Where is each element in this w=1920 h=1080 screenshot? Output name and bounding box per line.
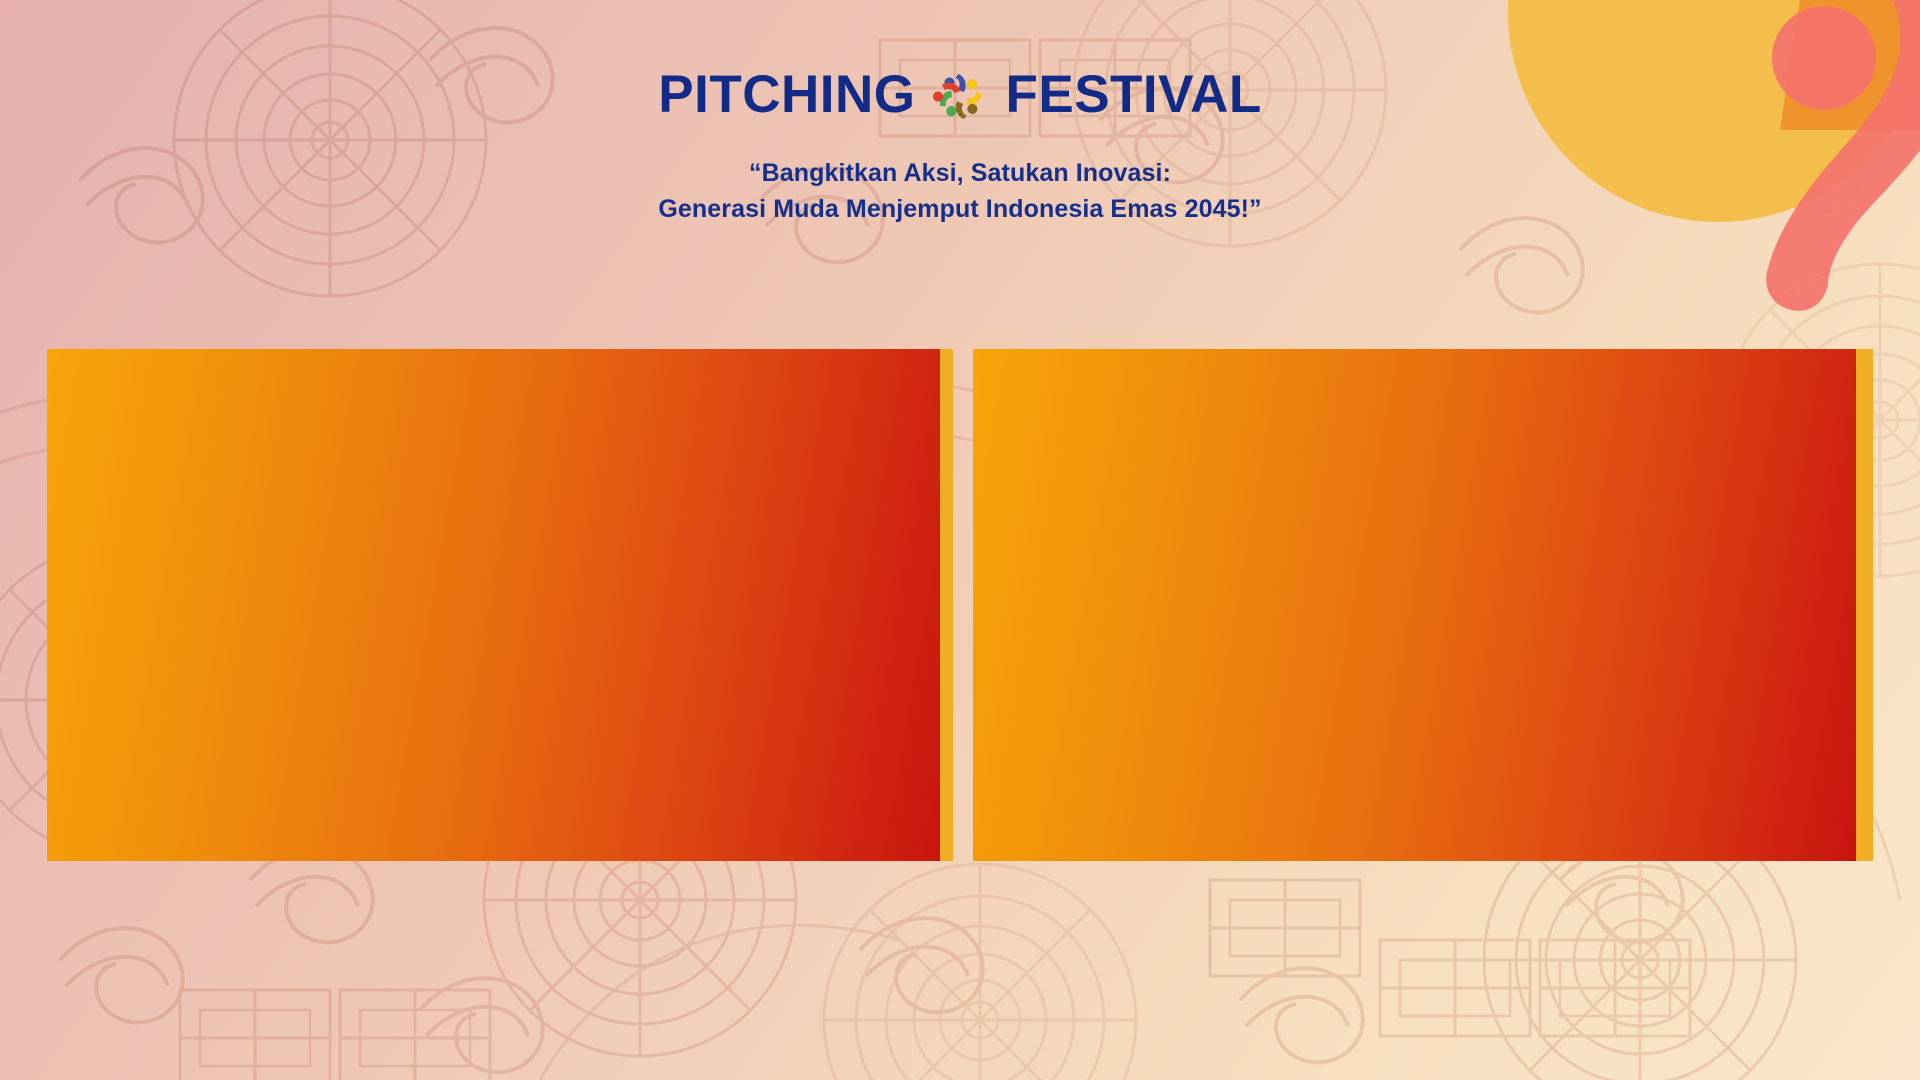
title-word-pitching: PITCHING [658, 68, 915, 121]
right-media-panel[interactable] [973, 349, 1873, 861]
left-panel-gold-edge [940, 349, 953, 861]
event-tagline: “Bangkitkan Aksi, Satukan Inovasi: Gener… [0, 156, 1920, 227]
logo-figure-yellow [967, 79, 982, 105]
poster-canvas: PITCHING [0, 0, 1920, 1080]
left-media-surface[interactable] [47, 349, 940, 861]
title-word-festival: FESTIVAL [1005, 68, 1261, 121]
pinwheel-people-logo-icon [929, 64, 991, 126]
right-media-surface[interactable] [973, 349, 1856, 861]
event-title: PITCHING [0, 62, 1920, 126]
poster-header: PITCHING [0, 0, 1920, 227]
tagline-line-2: Generasi Muda Menjemput Indonesia Emas 2… [0, 192, 1920, 228]
right-panel-gold-edge [1856, 349, 1873, 861]
left-media-panel[interactable] [47, 349, 953, 861]
media-panel-group [47, 349, 1873, 861]
tagline-line-1: “Bangkitkan Aksi, Satukan Inovasi: [0, 156, 1920, 192]
